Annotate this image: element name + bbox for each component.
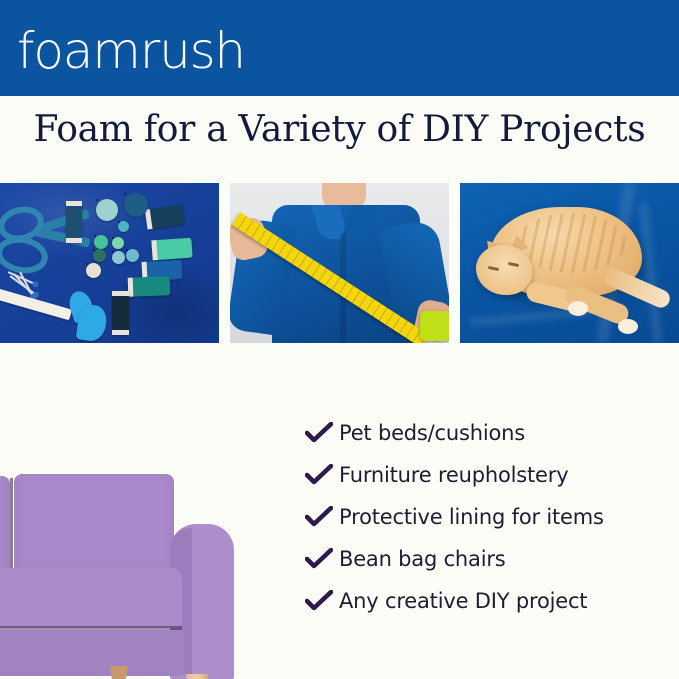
cat-paw	[568, 301, 588, 316]
sofa-leg-front	[186, 674, 208, 679]
sofa-cushion-gap	[10, 478, 13, 578]
sewing-supplies-photo	[0, 183, 219, 343]
sofa-base	[0, 630, 184, 676]
thread-spool	[112, 291, 129, 335]
list-item-label: Any creative DIY project	[339, 589, 587, 613]
purple-sofa-illustration	[0, 440, 274, 679]
list-item[interactable]: Bean bag chairs	[305, 538, 679, 580]
list-item[interactable]: Any creative DIY project	[305, 580, 679, 622]
cat-paw	[618, 319, 638, 334]
button	[94, 235, 108, 249]
cushion-fold	[639, 203, 663, 343]
button	[126, 249, 139, 262]
button	[118, 221, 129, 232]
thread-spool	[151, 238, 192, 261]
cat-head	[476, 245, 532, 295]
cat-fur-stripes	[516, 213, 626, 273]
check-icon	[305, 548, 339, 570]
list-item[interactable]: Furniture reupholstery	[305, 454, 679, 496]
cat-on-cushion-photo	[460, 183, 679, 343]
list-item-label: Pet beds/cushions	[339, 421, 525, 445]
sofa-seat-cushion-right	[0, 568, 182, 628]
brand-logo: foamrush	[17, 25, 245, 77]
thread-spool	[128, 276, 171, 296]
list-item[interactable]: Protective lining for items	[305, 496, 679, 538]
marketing-infographic: foamrush Foam for a Variety of DIY Proje…	[0, 0, 679, 679]
check-icon	[305, 506, 339, 528]
thread-spool	[66, 201, 82, 243]
button	[93, 249, 106, 262]
button	[112, 237, 124, 249]
tape-measure-case	[420, 311, 449, 341]
button	[124, 193, 148, 217]
button	[96, 199, 118, 221]
sofa-leg-back	[110, 666, 128, 679]
sofa-back-cushion-right	[14, 474, 174, 578]
tape-measure-photo	[230, 183, 449, 343]
photo-strip	[0, 183, 679, 343]
check-icon	[305, 590, 339, 612]
features-list: Pet beds/cushions Furniture reupholstery…	[305, 412, 679, 622]
list-item-label: Furniture reupholstery	[339, 463, 568, 487]
button	[86, 263, 101, 278]
check-icon	[305, 464, 339, 486]
button	[112, 251, 125, 264]
list-item[interactable]: Pet beds/cushions	[305, 412, 679, 454]
list-item-label: Bean bag chairs	[339, 547, 506, 571]
sofa-back-cushion-left	[0, 476, 10, 578]
check-icon	[305, 422, 339, 444]
list-item-label: Protective lining for items	[339, 505, 604, 529]
brand-banner: foamrush	[0, 0, 679, 96]
page-title: Foam for a Variety of DIY Projects	[0, 108, 679, 152]
